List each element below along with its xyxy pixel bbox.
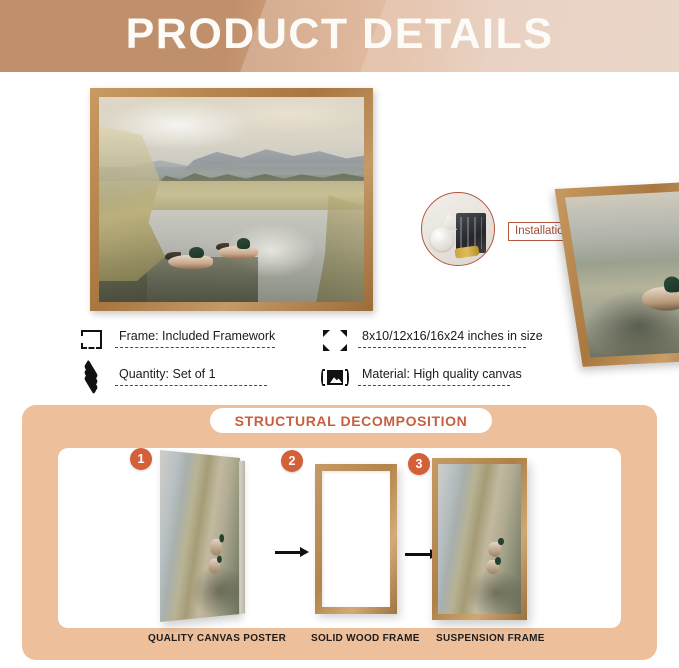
dashed-frame-icon: [79, 328, 105, 352]
page-header-banner: PRODUCT DETAILS: [0, 0, 679, 72]
flow-arrow-2: [405, 553, 431, 556]
painting-canvas: [99, 97, 364, 302]
final-duck-head: [498, 538, 504, 546]
step-labels-row: QUALITY CANVAS POSTER SOLID WOOD FRAME S…: [22, 633, 657, 653]
spec-underline: [358, 347, 526, 348]
poster-side-edge: [239, 461, 245, 614]
framed-painting-image: [90, 88, 373, 311]
step-label-1: QUALITY CANVAS POSTER: [148, 633, 286, 644]
spec-size-text-wrap: 8x10/12x16/16x24 inches in size: [358, 328, 547, 348]
duck-head: [237, 238, 251, 249]
spec-underline: [115, 385, 267, 386]
structural-decomposition-title: STRUCTURAL DECOMPOSITION: [210, 408, 492, 433]
hardware-screws-icon: [454, 245, 479, 258]
duck-head: [189, 247, 204, 259]
angled-artwork-duck-head: [663, 276, 679, 293]
final-artwork: [438, 464, 521, 614]
spec-underline: [115, 347, 275, 348]
step-badge-2: 2: [281, 450, 303, 472]
spec-frame-text-wrap: Frame: Included Framework: [115, 328, 279, 348]
hardware-ring-icon: [430, 227, 454, 251]
installation-hardware-photo: [421, 192, 495, 266]
hardware-bracket-detail: [460, 217, 482, 249]
step-label-2: SOLID WOOD FRAME: [311, 633, 420, 644]
spec-item-size: 8x10/12x16/16x24 inches in size: [322, 328, 547, 352]
step-badge-3: 3: [408, 453, 430, 475]
spec-frame-label: Frame: Included Framework: [115, 329, 279, 346]
poster-artwork: [160, 450, 240, 622]
specifications-list: Frame: Included Framework Quantity: Set …: [0, 322, 679, 398]
spec-underline: [358, 385, 510, 386]
flow-arrow-1: [275, 551, 301, 554]
spec-item-frame: Frame: Included Framework: [79, 328, 279, 352]
step-1-canvas-poster-image: [160, 450, 240, 622]
expand-arrows-icon: [322, 328, 348, 352]
product-details-page: PRODUCT DETAILS: [0, 0, 679, 668]
step-3-suspension-frame-image: [432, 458, 527, 620]
artwork-duck: [168, 247, 213, 270]
spec-material-label: Material: High quality canvas: [358, 367, 526, 384]
step-label-3: SUSPENSION FRAME: [436, 633, 545, 644]
final-duck-head: [495, 557, 501, 565]
spec-material-text-wrap: Material: High quality canvas: [358, 366, 526, 386]
step-badge-1: 1: [130, 448, 152, 470]
artwork-duck: [218, 238, 258, 259]
layers-icon: [79, 366, 105, 390]
spec-quantity-label: Quantity: Set of 1: [115, 367, 267, 384]
page-title: PRODUCT DETAILS: [0, 10, 679, 59]
spec-item-material: Material: High quality canvas: [322, 366, 526, 390]
picture-icon: [322, 366, 348, 390]
poster-duck-head: [219, 534, 224, 542]
step-2-wood-frame-image: [315, 464, 397, 614]
spec-quantity-text-wrap: Quantity: Set of 1: [115, 366, 267, 386]
frame-opening: [322, 471, 390, 607]
spec-size-label: 8x10/12x16/16x24 inches in size: [358, 329, 547, 346]
poster-duck-head: [217, 555, 222, 563]
spec-item-quantity: Quantity: Set of 1: [79, 366, 267, 390]
